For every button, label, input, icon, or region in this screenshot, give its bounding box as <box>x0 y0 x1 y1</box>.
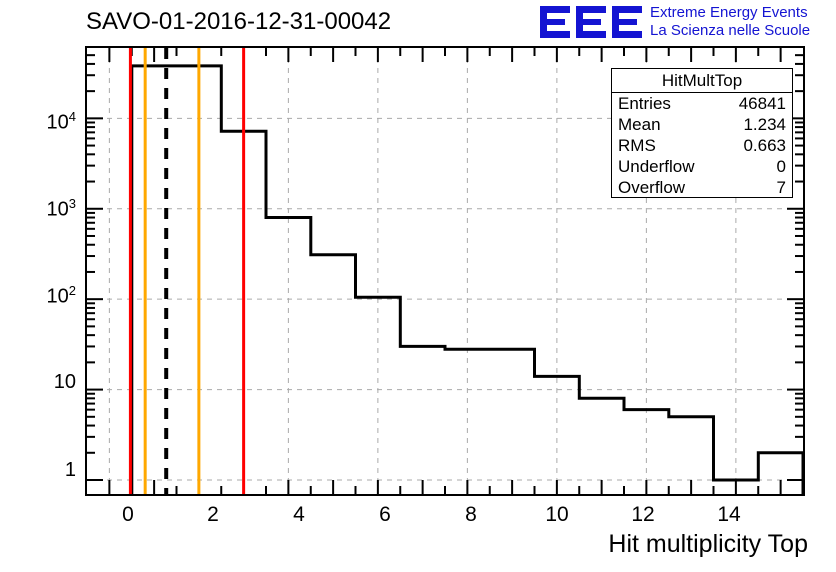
eee-tagline: Extreme Energy Events La Scienza nelle S… <box>650 4 810 40</box>
stats-box[interactable]: HitMultTop Entries46841Mean1.234RMS0.663… <box>611 68 793 198</box>
stats-row-label: Underflow <box>618 156 695 177</box>
page-title: SAVO-01-2016-12-31-00042 <box>86 8 391 36</box>
x-tick-label-6: 6 <box>365 503 405 527</box>
x-tick-label-8: 8 <box>451 503 491 527</box>
stats-row-label: Entries <box>618 93 671 114</box>
stats-row: Mean1.234 <box>612 114 792 135</box>
x-tick-label-14: 14 <box>709 503 749 527</box>
stats-row-value: 0.663 <box>743 135 786 156</box>
stats-row-value: 46841 <box>739 93 786 114</box>
stats-row: Overflow7 <box>612 177 792 198</box>
eee-logo: Extreme Energy Events La Scienza nelle S… <box>538 2 832 42</box>
stats-row-label: RMS <box>618 135 656 156</box>
root-canvas: SAVO-01-2016-12-31-00042 Extreme Energy … <box>0 0 836 572</box>
stats-title: HitMultTop <box>612 69 792 93</box>
stats-row-value: 7 <box>777 177 786 198</box>
stats-row: Entries46841 <box>612 93 792 114</box>
stats-row-value: 1.234 <box>743 114 786 135</box>
stats-row: RMS0.663 <box>612 135 792 156</box>
cut-lines <box>130 48 243 494</box>
stats-row-label: Overflow <box>618 177 685 198</box>
eee-tagline-line2: La Scienza nelle Scuole <box>650 22 810 40</box>
y-tick-label-10: 10 <box>22 371 76 394</box>
x-tick-label-10: 10 <box>537 503 577 527</box>
x-tick-label-2: 2 <box>193 503 233 527</box>
y-tick-label-1000: 103 <box>8 196 76 222</box>
y-tick-label-10000: 104 <box>8 109 76 135</box>
y-tick-label-1: 1 <box>22 459 76 482</box>
stats-row-value: 0 <box>777 156 786 177</box>
stats-row-label: Mean <box>618 114 661 135</box>
stats-row: Underflow0 <box>612 156 792 177</box>
x-tick-label-12: 12 <box>623 503 663 527</box>
y-tick-label-100: 102 <box>8 283 76 309</box>
stats-rows: Entries46841Mean1.234RMS0.663Underflow0O… <box>612 93 792 198</box>
x-tick-label-4: 4 <box>279 503 319 527</box>
eee-tagline-line1: Extreme Energy Events <box>650 4 810 22</box>
x-axis-title: Hit multiplicity Top <box>608 530 808 559</box>
eee-letters-icon <box>538 4 648 40</box>
x-tick-label-0: 0 <box>108 503 148 527</box>
